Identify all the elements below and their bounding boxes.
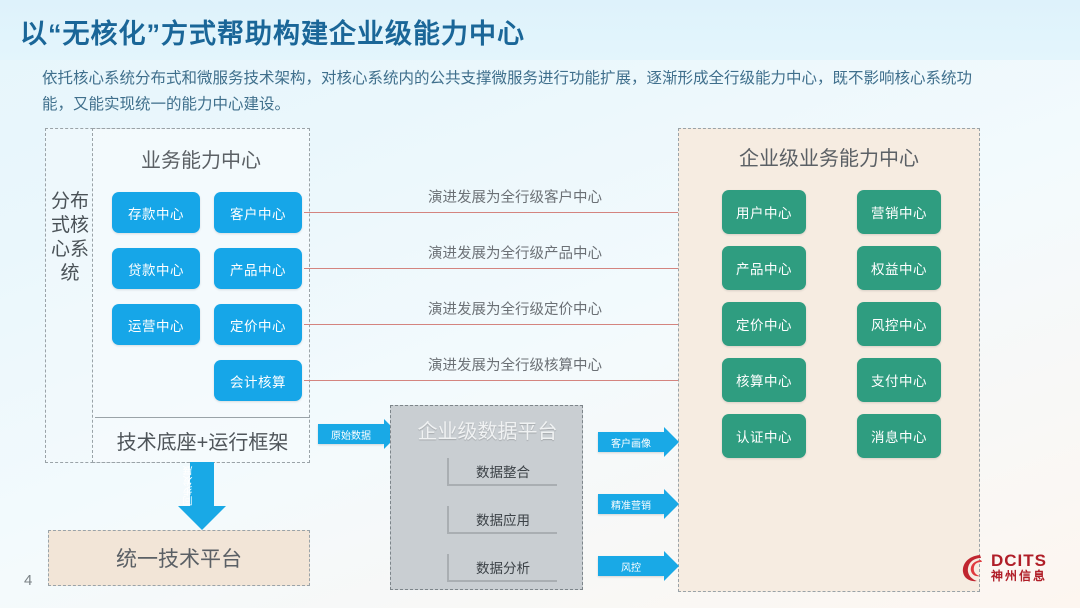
- dcits-logo-cn: 神州信息: [991, 569, 1047, 583]
- dcits-logo: DCITS 神州信息: [960, 552, 1047, 583]
- slide-canvas: 以“无核化”方式帮助构建企业级能力中心 依托核心系统分布式和微服务技术架构，对核…: [0, 0, 1080, 608]
- chip-risk-center[interactable]: 风控中心: [857, 302, 941, 346]
- enterprise-capability-title: 企业级业务能力中心: [678, 142, 980, 171]
- chip-loan-center[interactable]: 贷款中心: [112, 248, 200, 289]
- chip-deposit-center[interactable]: 存款中心: [112, 192, 200, 233]
- chip-product-center[interactable]: 产品中心: [214, 248, 302, 289]
- chip-pricing-center[interactable]: 定价中心: [214, 304, 302, 345]
- arrow-head-icon: [664, 427, 679, 457]
- connector-label-pricing: 演进发展为全行级定价中心: [340, 298, 690, 319]
- arrow-raw-data-label: 原始数据: [318, 424, 384, 444]
- distributed-core-system-label: 分布式核心系统: [50, 190, 90, 286]
- data-platform-item-integration[interactable]: 数据整合: [447, 458, 557, 486]
- arrow-risk-control-label: 风控: [598, 556, 664, 576]
- chip-rights-center[interactable]: 权益中心: [857, 246, 941, 290]
- arrow-head-icon: [664, 489, 679, 519]
- chip-message-center[interactable]: 消息中心: [857, 414, 941, 458]
- arrow-risk-control: 风控: [598, 551, 679, 581]
- chip-ent-pricing-center[interactable]: 定价中心: [722, 302, 806, 346]
- arrow-head-icon: [664, 551, 679, 581]
- chip-auth-center[interactable]: 认证中心: [722, 414, 806, 458]
- data-platform-item-application[interactable]: 数据应用: [447, 506, 557, 534]
- connector-line-product: [304, 268, 729, 269]
- connector-label-product: 演进发展为全行级产品中心: [340, 242, 690, 263]
- connector-line-customer: [304, 212, 729, 213]
- chip-user-center[interactable]: 用户中心: [722, 190, 806, 234]
- arrow-customer-profile-label: 客户画像: [598, 432, 664, 452]
- page-subtitle: 依托核心系统分布式和微服务技术架构，对核心系统内的公共支撑微服务进行功能扩展，逐…: [42, 66, 1002, 118]
- business-capability-panel: [92, 128, 310, 463]
- unified-tech-platform[interactable]: 统一技术平台: [48, 530, 310, 586]
- arrow-precision-marketing-label: 精准营销: [598, 494, 664, 514]
- chip-payment-center[interactable]: 支付中心: [857, 358, 941, 402]
- arrow-sync-development-label: 同步发展: [184, 466, 220, 506]
- chip-ent-product-center[interactable]: 产品中心: [722, 246, 806, 290]
- data-platform-title: 企业级数据平台: [391, 415, 584, 444]
- chip-accounting[interactable]: 会计核算: [214, 360, 302, 401]
- page-title: 以“无核化”方式帮助构建企业级能力中心: [20, 12, 525, 51]
- arrow-precision-marketing: 精准营销: [598, 489, 679, 519]
- business-capability-title: 业务能力中心: [92, 144, 310, 173]
- chip-customer-center[interactable]: 客户中心: [214, 192, 302, 233]
- enterprise-data-platform: 企业级数据平台 数据整合 数据应用 数据分析: [390, 405, 583, 590]
- tech-base-label: 技术底座+运行框架: [95, 417, 310, 463]
- arrow-down-icon: [178, 506, 226, 530]
- arrow-raw-data: 原始数据: [318, 419, 399, 449]
- connector-label-accounting: 演进发展为全行级核算中心: [340, 354, 690, 375]
- dcits-mark-icon: [960, 553, 986, 583]
- dcits-logo-en: DCITS: [991, 552, 1047, 569]
- chip-marketing-center[interactable]: 营销中心: [857, 190, 941, 234]
- chip-ent-accounting-center[interactable]: 核算中心: [722, 358, 806, 402]
- connector-line-accounting: [304, 380, 729, 381]
- chip-operation-center[interactable]: 运营中心: [112, 304, 200, 345]
- connector-label-customer: 演进发展为全行级客户中心: [340, 186, 690, 207]
- connector-line-pricing: [304, 324, 729, 325]
- arrow-sync-development: 同步发展: [178, 462, 226, 530]
- page-number: 4: [24, 572, 32, 589]
- arrow-customer-profile: 客户画像: [598, 427, 679, 457]
- data-platform-item-analysis[interactable]: 数据分析: [447, 554, 557, 582]
